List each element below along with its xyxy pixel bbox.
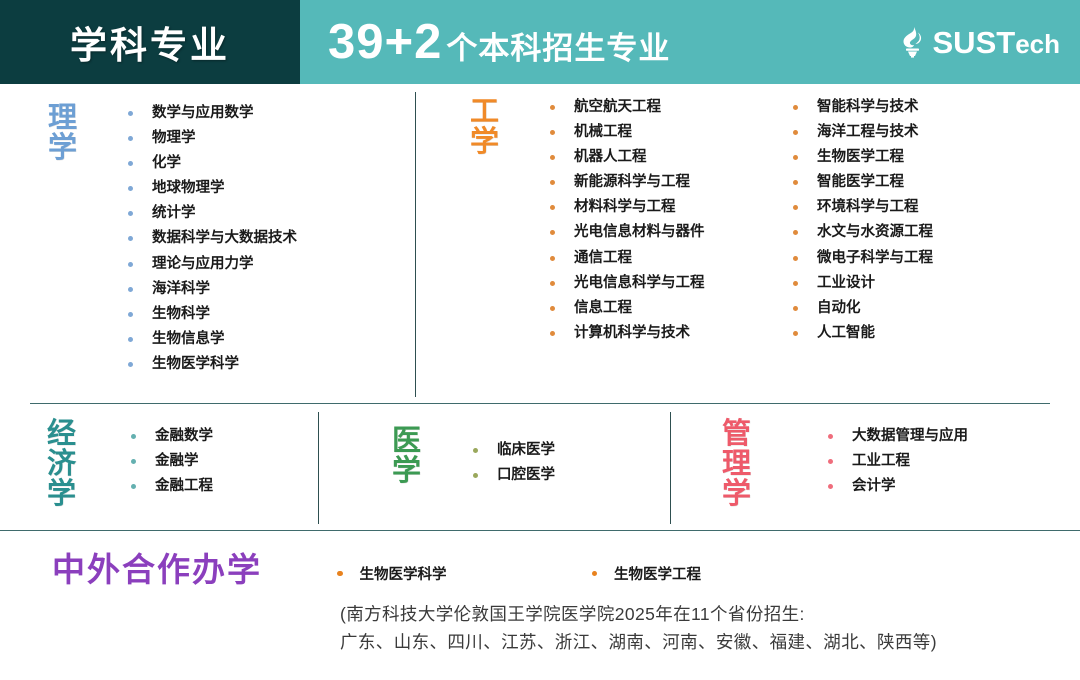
major-name: 新能源科学与工程 bbox=[574, 175, 690, 190]
bullet-icon bbox=[131, 434, 136, 439]
list-item[interactable]: 环境科学与工程 bbox=[793, 200, 933, 215]
major-name: 口腔医学 bbox=[497, 468, 555, 483]
major-name: 金融工程 bbox=[155, 479, 213, 494]
list-item[interactable]: 材料科学与工程 bbox=[550, 200, 705, 215]
logo-text-suffix: ech bbox=[1015, 29, 1060, 59]
list-item[interactable]: 临床医学 bbox=[473, 443, 555, 458]
discipline-economics: 经济学 bbox=[47, 420, 82, 510]
major-name: 微电子科学与工程 bbox=[817, 251, 933, 266]
major-count: 39+2 bbox=[328, 18, 442, 67]
poster-root: 学科专业 39+2 个本科招生专业 SUSTech bbox=[0, 0, 1080, 680]
bullet-icon bbox=[128, 262, 133, 267]
bullet-icon bbox=[128, 287, 133, 292]
major-name: 通信工程 bbox=[574, 251, 632, 266]
major-name: 数据科学与大数据技术 bbox=[152, 231, 297, 246]
bullet-icon bbox=[550, 281, 555, 286]
major-name: 金融学 bbox=[155, 454, 199, 469]
list-item[interactable]: 生物医学科学 bbox=[337, 563, 447, 584]
major-name: 机械工程 bbox=[574, 125, 632, 140]
discipline-management: 管理学 bbox=[722, 420, 757, 510]
list-item[interactable]: 统计学 bbox=[128, 206, 297, 221]
header-title-block: 学科专业 bbox=[0, 0, 300, 84]
cooperation-note-line-1: (南方科技大学伦敦国王学院医学院2025年在11个省份招生: bbox=[340, 600, 1060, 628]
major-name: 大数据管理与应用 bbox=[852, 429, 968, 444]
list-item[interactable]: 智能科学与技术 bbox=[793, 100, 933, 115]
major-name: 海洋科学 bbox=[152, 282, 210, 297]
major-name: 会计学 bbox=[852, 479, 896, 494]
major-name: 人工智能 bbox=[817, 326, 875, 341]
list-item[interactable]: 机器人工程 bbox=[550, 150, 705, 165]
bullet-icon bbox=[828, 484, 833, 489]
major-name: 信息工程 bbox=[574, 301, 632, 316]
list-item[interactable]: 航空航天工程 bbox=[550, 100, 705, 115]
list-item[interactable]: 机械工程 bbox=[550, 125, 705, 140]
major-list-management: 大数据管理与应用 工业工程 会计学 bbox=[828, 429, 968, 504]
major-name: 自动化 bbox=[817, 301, 861, 316]
bullet-icon bbox=[793, 331, 798, 336]
bullet-icon bbox=[473, 448, 478, 453]
bullet-icon bbox=[550, 230, 555, 235]
list-item[interactable]: 光电信息材料与器件 bbox=[550, 225, 705, 240]
list-item[interactable]: 海洋工程与技术 bbox=[793, 125, 933, 140]
bullet-icon bbox=[128, 136, 133, 141]
bullet-icon bbox=[550, 256, 555, 261]
discipline-medicine: 医学 bbox=[392, 427, 427, 487]
bullet-icon bbox=[337, 571, 343, 577]
list-item[interactable]: 生物医学工程 bbox=[793, 150, 933, 165]
list-item[interactable]: 数学与应用数学 bbox=[128, 106, 297, 121]
major-name: 光电信息科学与工程 bbox=[574, 276, 705, 291]
list-item[interactable]: 智能医学工程 bbox=[793, 175, 933, 190]
bullet-icon bbox=[793, 306, 798, 311]
bullet-icon bbox=[550, 105, 555, 110]
bullet-icon bbox=[793, 281, 798, 286]
major-name: 生物医学科学 bbox=[152, 357, 239, 372]
major-name: 临床医学 bbox=[497, 443, 555, 458]
bullet-icon bbox=[592, 571, 598, 577]
list-item[interactable]: 人工智能 bbox=[793, 326, 933, 341]
list-item[interactable]: 大数据管理与应用 bbox=[828, 429, 968, 444]
bullet-icon bbox=[550, 306, 555, 311]
major-name: 理论与应用力学 bbox=[152, 257, 254, 272]
bullet-icon bbox=[131, 459, 136, 464]
row-economics-medicine-management: 经济学 金融数学 金融学 金融工程 医学 临床医学 口腔医学 管理学 大数据管理… bbox=[0, 406, 1080, 530]
torch-flame-icon bbox=[899, 26, 926, 58]
discipline-engineering: 工学 bbox=[470, 98, 505, 158]
major-name: 工业工程 bbox=[852, 454, 910, 469]
major-name: 生物医学工程 bbox=[817, 150, 904, 165]
list-item[interactable]: 工业工程 bbox=[828, 454, 968, 469]
bullet-icon bbox=[793, 180, 798, 185]
bullet-icon bbox=[550, 205, 555, 210]
bullet-icon bbox=[793, 205, 798, 210]
discipline-label-management: 管理学 bbox=[722, 420, 757, 510]
bullet-icon bbox=[550, 155, 555, 160]
list-item[interactable]: 金融学 bbox=[131, 454, 213, 469]
bullet-icon bbox=[550, 331, 555, 336]
divider-horizontal-1 bbox=[30, 403, 1050, 404]
bullet-icon bbox=[473, 473, 478, 478]
major-name: 计算机科学与技术 bbox=[574, 326, 690, 341]
bullet-icon bbox=[128, 161, 133, 166]
major-name: 金融数学 bbox=[155, 429, 213, 444]
list-item[interactable]: 金融工程 bbox=[131, 479, 213, 494]
list-item[interactable]: 信息工程 bbox=[550, 301, 705, 316]
list-item[interactable]: 会计学 bbox=[828, 479, 968, 494]
major-name: 工业设计 bbox=[817, 276, 875, 291]
list-item[interactable]: 生物医学工程 bbox=[592, 563, 702, 584]
discipline-label-science: 理学 bbox=[48, 104, 83, 164]
cooperation-program-list: 生物医学科学 生物医学工程 bbox=[337, 563, 701, 584]
list-item[interactable]: 光电信息科学与工程 bbox=[550, 276, 705, 291]
list-item[interactable]: 自动化 bbox=[793, 301, 933, 316]
bullet-icon bbox=[128, 312, 133, 317]
list-item[interactable]: 生物信息学 bbox=[128, 332, 297, 347]
bullet-icon bbox=[128, 111, 133, 116]
divider-vertical-top bbox=[415, 92, 416, 397]
major-name: 水文与水资源工程 bbox=[817, 225, 933, 240]
major-name: 物理学 bbox=[152, 131, 196, 146]
major-name: 智能医学工程 bbox=[817, 175, 904, 190]
bullet-icon bbox=[128, 211, 133, 216]
list-item[interactable]: 新能源科学与工程 bbox=[550, 175, 705, 190]
list-item[interactable]: 水文与水资源工程 bbox=[793, 225, 933, 240]
major-name: 数学与应用数学 bbox=[152, 106, 254, 121]
major-name: 光电信息材料与器件 bbox=[574, 225, 705, 240]
discipline-science: 理学 bbox=[48, 104, 83, 164]
major-name: 统计学 bbox=[152, 206, 196, 221]
major-name: 环境科学与工程 bbox=[817, 200, 919, 215]
list-item[interactable]: 金融数学 bbox=[131, 429, 213, 444]
cooperation-note: (南方科技大学伦敦国王学院医学院2025年在11个省份招生: 广东、山东、四川、… bbox=[340, 600, 1060, 657]
divider-vertical-mid-2 bbox=[670, 412, 671, 524]
row-science-engineering: 理学 数学与应用数学 物理学 化学 地球物理学 统计学 数据科学与大数据技术 理… bbox=[0, 84, 1080, 403]
divider-horizontal-2 bbox=[0, 530, 1080, 531]
major-list-medicine: 临床医学 口腔医学 bbox=[473, 443, 555, 493]
major-list-engineering-col1: 航空航天工程 机械工程 机器人工程 新能源科学与工程 材料科学与工程 光电信息材… bbox=[550, 100, 705, 351]
major-name: 化学 bbox=[152, 156, 181, 171]
major-name: 航空航天工程 bbox=[574, 100, 661, 115]
bullet-icon bbox=[128, 186, 133, 191]
bullet-icon bbox=[128, 362, 133, 367]
major-name: 材料科学与工程 bbox=[574, 200, 676, 215]
list-item[interactable]: 通信工程 bbox=[550, 251, 705, 266]
list-item[interactable]: 工业设计 bbox=[793, 276, 933, 291]
logo-text-main: SUST bbox=[933, 25, 1016, 60]
major-name: 智能科学与技术 bbox=[817, 100, 919, 115]
bullet-icon bbox=[828, 434, 833, 439]
header-banner: 39+2 个本科招生专业 SUSTech bbox=[300, 0, 1080, 84]
logo-wordmark: SUSTech bbox=[933, 27, 1061, 58]
list-item[interactable]: 海洋科学 bbox=[128, 282, 297, 297]
list-item[interactable]: 理论与应用力学 bbox=[128, 257, 297, 272]
bullet-icon bbox=[828, 459, 833, 464]
header-subtitle: 个本科招生专业 bbox=[446, 33, 670, 64]
bullet-icon bbox=[793, 155, 798, 160]
bullet-icon bbox=[550, 180, 555, 185]
cooperation-note-line-2: 广东、山东、四川、江苏、浙江、湖南、河南、安徽、福建、湖北、陕西等) bbox=[340, 628, 1060, 656]
major-name: 生物医学工程 bbox=[614, 563, 701, 584]
bullet-icon bbox=[793, 105, 798, 110]
major-name: 机器人工程 bbox=[574, 150, 647, 165]
divider-vertical-mid-1 bbox=[318, 412, 319, 524]
list-item[interactable]: 数据科学与大数据技术 bbox=[128, 231, 297, 246]
major-name: 生物信息学 bbox=[152, 332, 225, 347]
major-list-science: 数学与应用数学 物理学 化学 地球物理学 统计学 数据科学与大数据技术 理论与应… bbox=[128, 106, 297, 382]
major-name: 地球物理学 bbox=[152, 181, 225, 196]
bullet-icon bbox=[128, 236, 133, 241]
major-name: 生物科学 bbox=[152, 307, 210, 322]
sustech-logo: SUSTech bbox=[899, 26, 1061, 58]
discipline-label-engineering: 工学 bbox=[470, 98, 505, 158]
list-item[interactable]: 生物医学科学 bbox=[128, 357, 297, 372]
bullet-icon bbox=[550, 130, 555, 135]
major-list-economics: 金融数学 金融学 金融工程 bbox=[131, 429, 213, 504]
list-item[interactable]: 生物科学 bbox=[128, 307, 297, 322]
header-bar: 学科专业 39+2 个本科招生专业 SUSTech bbox=[0, 0, 1080, 84]
major-name: 生物医学科学 bbox=[360, 563, 447, 584]
bullet-icon bbox=[793, 130, 798, 135]
list-item[interactable]: 微电子科学与工程 bbox=[793, 251, 933, 266]
major-name: 海洋工程与技术 bbox=[817, 125, 919, 140]
major-list-engineering-col2: 智能科学与技术 海洋工程与技术 生物医学工程 智能医学工程 环境科学与工程 水文… bbox=[793, 100, 933, 351]
bullet-icon bbox=[128, 337, 133, 342]
bullet-icon bbox=[131, 484, 136, 489]
list-item[interactable]: 口腔医学 bbox=[473, 468, 555, 483]
list-item[interactable]: 物理学 bbox=[128, 131, 297, 146]
list-item[interactable]: 地球物理学 bbox=[128, 181, 297, 196]
list-item[interactable]: 计算机科学与技术 bbox=[550, 326, 705, 341]
bullet-icon bbox=[793, 256, 798, 261]
page-title: 学科专业 bbox=[70, 15, 230, 69]
bullet-icon bbox=[793, 230, 798, 235]
cooperation-title: 中外合作办学 bbox=[52, 553, 262, 586]
list-item[interactable]: 化学 bbox=[128, 156, 297, 171]
discipline-label-medicine: 医学 bbox=[392, 427, 427, 487]
discipline-label-economics: 经济学 bbox=[47, 420, 82, 510]
